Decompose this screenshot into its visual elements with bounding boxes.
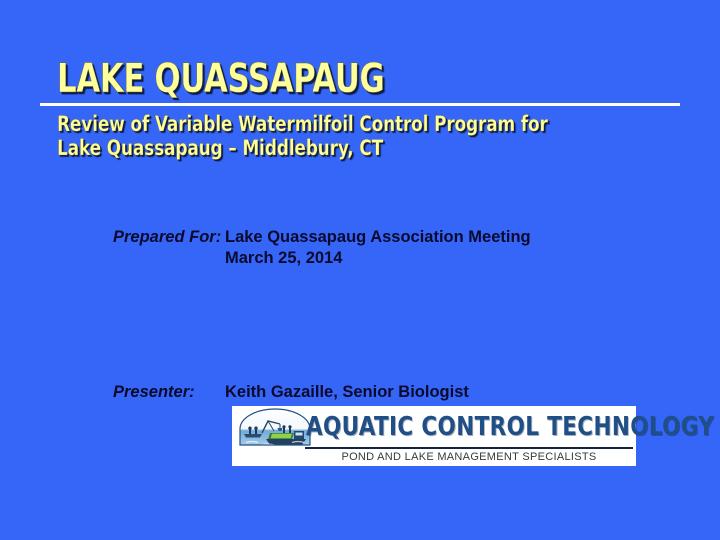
title-divider-rule [40,103,680,106]
subtitle-line-1: Review of Variable Watermilfoil Control … [57,112,615,136]
prepared-for-row: Prepared For: Lake Quassapaug Associatio… [113,228,531,247]
prepared-for-date: March 25, 2014 [225,247,531,269]
presenter-label: Presenter: [113,383,225,402]
page-title: LAKE QUASSAPAUG [57,57,384,101]
aquatic-harvester-boat-icon [236,407,314,451]
logo-tagline: POND AND LAKE MANAGEMENT SPECIALISTS [305,450,633,465]
presenter-value: Keith Gazaille, Senior Biologist [225,383,469,402]
presentation-slide: LAKE QUASSAPAUG Review of Variable Water… [0,0,720,540]
prepared-for-block: Prepared For: Lake Quassapaug Associatio… [113,228,531,269]
logo-inner: AQUATIC CONTROL TECHNOLOGY POND AND LAKE… [232,406,636,466]
presenter-block: Presenter: Keith Gazaille, Senior Biolog… [113,383,469,402]
prepared-for-value: Lake Quassapaug Association Meeting [225,228,531,247]
prepared-for-label: Prepared For: [113,228,225,247]
presenter-row: Presenter: Keith Gazaille, Senior Biolog… [113,383,469,402]
subtitle: Review of Variable Watermilfoil Control … [57,112,615,160]
subtitle-line-2: Lake Quassapaug – Middlebury, CT [57,136,615,160]
logo-wordmark: AQUATIC CONTROL TECHNOLOGY [306,411,605,444]
company-logo: AQUATIC CONTROL TECHNOLOGY POND AND LAKE… [232,406,636,466]
logo-divider [305,447,633,449]
